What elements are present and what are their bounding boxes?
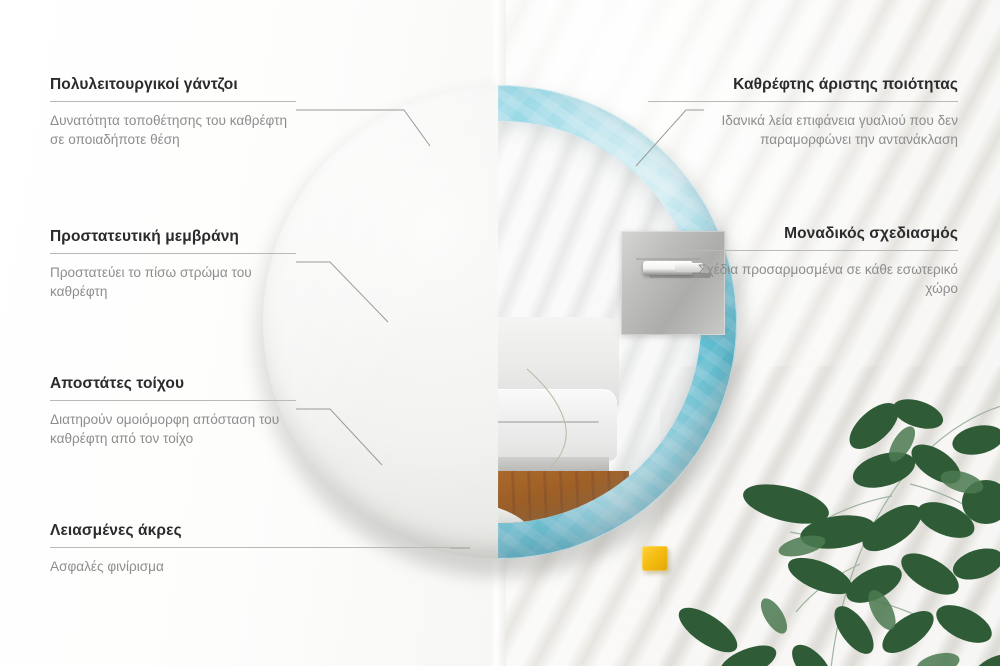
feature-title: Μοναδικός σχεδιασμός [668, 225, 958, 243]
feature-block-multifunctional-hooks: Πολυλειτουργικοί γάντζοι Δυνατότητα τοπο… [50, 76, 296, 150]
feature-description: Ιδανικά λεία επιφάνεια γυαλιού που δεν π… [648, 111, 958, 150]
feature-block-wall-spacers: Αποστάτες τοίχου Διατηρούν ομοιόμορφη απ… [50, 375, 296, 449]
feature-title: Πολυλειτουργικοί γάντζοι [50, 76, 296, 94]
infographic-canvas: Πολυλειτουργικοί γάντζοι Δυνατότητα τοπο… [0, 0, 1000, 666]
feature-block-protective-membrane: Προστατευτική μεμβράνη Προστατεύει το πί… [50, 228, 296, 302]
feature-description: Προστατεύει το πίσω στρώμα του καθρέφτη [50, 263, 296, 302]
feature-description: Διατηρούν ομοιόμορφη απόσταση του καθρέφ… [50, 410, 296, 449]
feature-rule [50, 253, 296, 254]
feature-rule [648, 101, 958, 102]
feature-block-smoothed-edges: Λειασμένες άκρες Ασφαλές φινίρισμα [50, 522, 450, 576]
feature-block-unique-design: Μοναδικός σχεδιασμός Σχέδια προσαρμοσμέν… [668, 225, 958, 299]
feature-description: Δυνατότητα τοποθέτησης του καθρέφτη σε ο… [50, 111, 296, 150]
feature-rule [50, 400, 296, 401]
feature-description: Σχέδια προσαρμοσμένα σε κάθε εσωτερικό χ… [668, 260, 958, 299]
feature-block-top-quality-mirror: Καθρέφτης άριστης ποιότητας Ιδανικά λεία… [648, 76, 958, 150]
feature-title: Καθρέφτης άριστης ποιότητας [648, 76, 958, 94]
feature-rule [668, 250, 958, 251]
feature-title: Αποστάτες τοίχου [50, 375, 296, 393]
feature-rule [50, 101, 296, 102]
feature-title: Λειασμένες άκρες [50, 522, 450, 540]
feature-description: Ασφαλές φινίρισμα [50, 557, 450, 576]
feature-rule [50, 547, 450, 548]
feature-title: Προστατευτική μεμβράνη [50, 228, 296, 246]
reflected-lamp-wire-icon [525, 367, 587, 471]
decorative-green-leaves [678, 378, 1000, 666]
leaf-branch-icon [678, 378, 1000, 666]
